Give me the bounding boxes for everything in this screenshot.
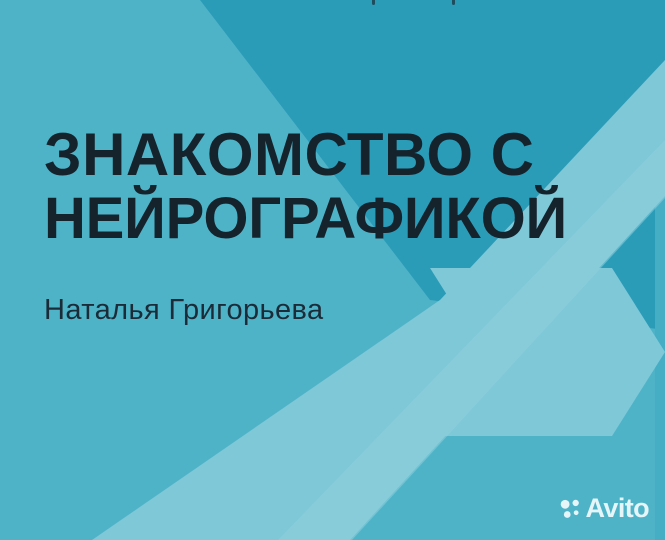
avito-watermark: Avito: [559, 495, 650, 522]
cover-text-block: ЗНАКОМСТВО С НЕЙРОГРАФИКОЙ Наталья Григо…: [44, 126, 656, 327]
cropped-text-remnant: [372, 0, 375, 5]
avito-dots-icon: [559, 497, 582, 520]
dark-sliver-right-edge: [655, 150, 665, 540]
book-cover: ЗНАКОМСТВО С НЕЙРОГРАФИКОЙ Наталья Григо…: [0, 0, 665, 540]
cropped-text-remnant: [452, 0, 455, 5]
avito-wordmark: Avito: [586, 495, 650, 522]
author-name: Наталья Григорьева: [44, 294, 656, 327]
base-reclaim-lower-left: [0, 390, 92, 540]
title-line-2: НЕЙРОГРАФИКОЙ: [44, 191, 656, 248]
title-line-1: ЗНАКОМСТВО С: [44, 126, 656, 185]
